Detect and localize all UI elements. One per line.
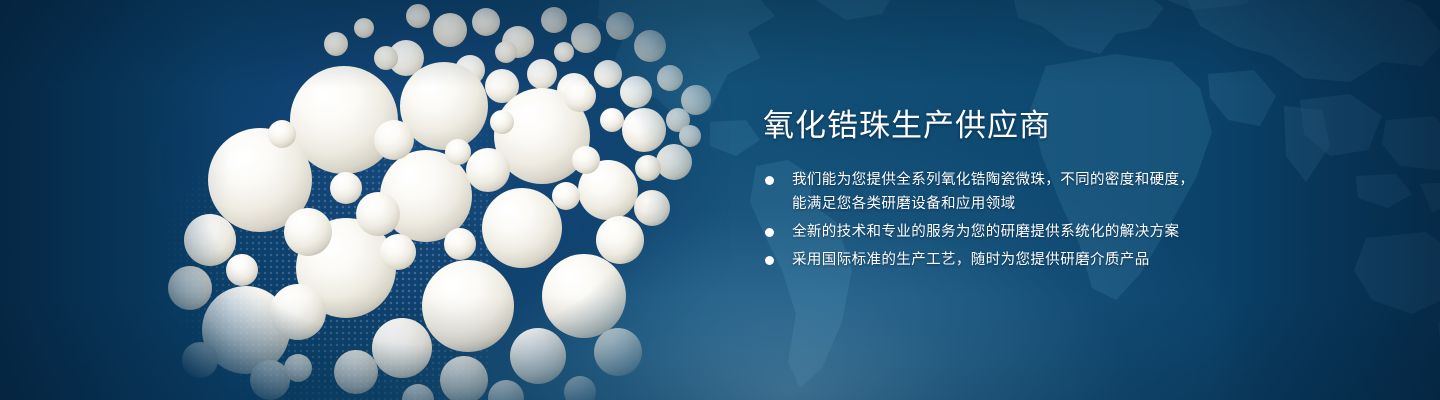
list-item: 采用国际标准的生产工艺，随时为您提供研磨介质产品 — [763, 248, 1233, 272]
list-item-line-2: 能满足您各类研磨设备和应用领域 — [792, 192, 1233, 216]
list-item-line-1: 我们能为您提供全系列氧化锆陶瓷微珠，不同的密度和硬度， — [792, 168, 1233, 192]
bullet-dot-icon — [765, 176, 774, 185]
product-photo-zirconia-beads — [150, 0, 730, 400]
list-item-line-1: 采用国际标准的生产工艺，随时为您提供研磨介质产品 — [792, 248, 1233, 272]
page-title: 氧化锆珠生产供应商 — [763, 106, 1233, 146]
feature-list: 我们能为您提供全系列氧化锆陶瓷微珠，不同的密度和硬度， 能满足您各类研磨设备和应… — [763, 168, 1233, 272]
bullet-dot-icon — [765, 228, 774, 237]
banner-copy: 氧化锆珠生产供应商 我们能为您提供全系列氧化锆陶瓷微珠，不同的密度和硬度， 能满… — [763, 106, 1233, 276]
bullet-dot-icon — [765, 256, 774, 265]
beads-illustration — [150, 0, 730, 400]
list-item: 我们能为您提供全系列氧化锆陶瓷微珠，不同的密度和硬度， 能满足您各类研磨设备和应… — [763, 168, 1233, 216]
list-item-line-1: 全新的技术和专业的服务为您的研磨提供系统化的解决方案 — [792, 220, 1233, 244]
list-item: 全新的技术和专业的服务为您的研磨提供系统化的解决方案 — [763, 220, 1233, 244]
hero-banner: 氧化锆珠生产供应商 我们能为您提供全系列氧化锆陶瓷微珠，不同的密度和硬度， 能满… — [0, 0, 1440, 400]
